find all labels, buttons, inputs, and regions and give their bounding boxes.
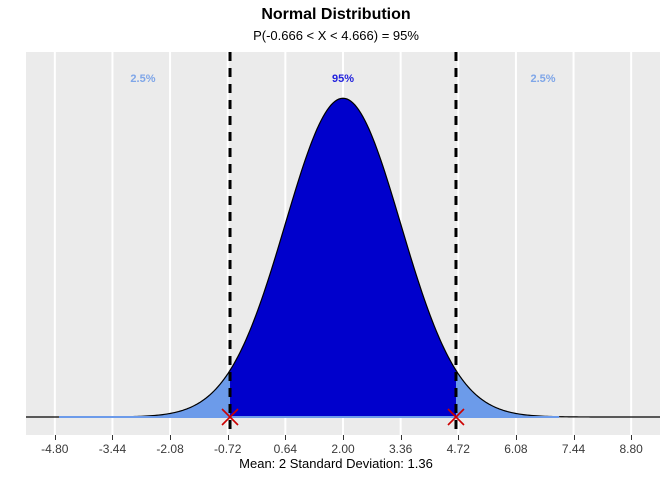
x-axis-label: Mean: 2 Standard Deviation: 1.36	[0, 456, 672, 471]
x-tick-mark-7	[458, 435, 459, 440]
x-tick-mark-5	[343, 435, 344, 440]
x-tick-label-4: 0.64	[274, 442, 297, 456]
x-tick-label-7: 4.72	[447, 442, 470, 456]
x-axis: -4.80-3.44-2.08-0.720.642.003.364.726.08…	[0, 435, 672, 445]
x-tick-mark-0	[55, 435, 56, 440]
x-tick-mark-1	[112, 435, 113, 440]
chart-subtitle: P(-0.666 < X < 4.666) = 95%	[0, 28, 672, 43]
x-tick-label-0: -4.80	[41, 442, 68, 456]
right-tail-label: 2.5%	[530, 73, 555, 85]
center-label: 95%	[332, 73, 354, 85]
x-tick-label-3: -0.72	[214, 442, 241, 456]
plot-area: 2.5%95%2.5%	[26, 52, 660, 435]
page-title: Normal Distribution	[0, 6, 672, 24]
plot-svg	[26, 52, 660, 435]
left-tail-label: 2.5%	[130, 73, 155, 85]
x-tick-mark-2	[170, 435, 171, 440]
x-tick-mark-4	[285, 435, 286, 440]
normal-distribution-chart: Normal Distribution P(-0.666 < X < 4.666…	[0, 0, 672, 480]
x-tick-mark-10	[631, 435, 632, 440]
x-tick-label-6: 3.36	[389, 442, 412, 456]
x-tick-mark-6	[401, 435, 402, 440]
x-tick-mark-3	[228, 435, 229, 440]
x-tick-label-9: 7.44	[562, 442, 585, 456]
central-region-area	[230, 98, 456, 417]
x-tick-label-2: -2.08	[156, 442, 183, 456]
x-tick-label-10: 8.80	[619, 442, 642, 456]
x-tick-mark-8	[516, 435, 517, 440]
x-tick-label-8: 6.08	[504, 442, 527, 456]
x-tick-label-5: 2.00	[331, 442, 354, 456]
x-tick-label-1: -3.44	[99, 442, 126, 456]
x-tick-mark-9	[574, 435, 575, 440]
